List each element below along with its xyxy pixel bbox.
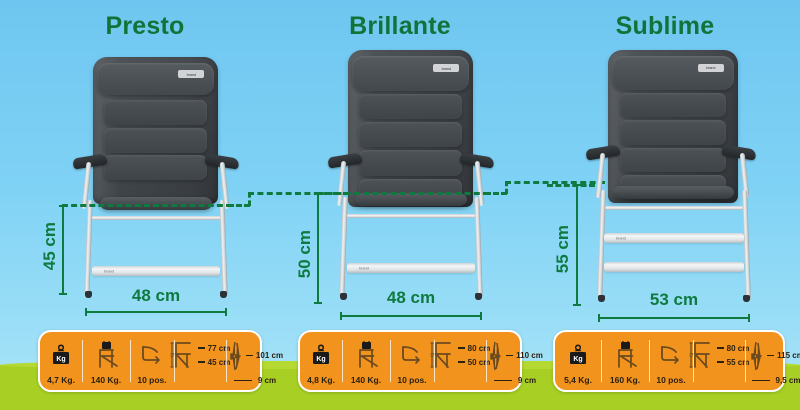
spec-dimensions: 80 cm 50 cm . — [434, 332, 486, 390]
spec-max-load: 160 Kg. — [601, 332, 649, 390]
guide-dash-step-a — [228, 204, 250, 207]
leg-front-left — [597, 190, 606, 300]
width-dim-line — [85, 311, 227, 313]
spec-folded-depth-value: 9,5 cm — [776, 376, 800, 385]
spec-weight: Kg 5,4 Kg. — [555, 332, 601, 390]
product-title-sublime: Sublime — [616, 12, 715, 41]
brand-logo-icon: brand — [433, 64, 459, 72]
width-label: 48 cm — [387, 288, 435, 308]
leg-front-right — [474, 197, 483, 298]
brand-logo-icon: brand — [178, 70, 204, 78]
seat-height-dim-line — [317, 192, 319, 304]
leg-front-right — [219, 200, 227, 296]
brand-logo-icon: brand — [698, 64, 724, 72]
folded-chair-dimensions-icon: 115 cm — [745, 337, 800, 374]
width-label: 53 cm — [650, 290, 698, 310]
spec-positions: 10 pos. — [649, 332, 693, 390]
foot-left — [598, 295, 605, 302]
seat-height-label: 55 cm — [553, 225, 573, 273]
foot-right — [220, 291, 227, 298]
spec-folded-depth: 9 cm — [494, 376, 536, 385]
headrest-cushion — [612, 56, 734, 90]
spec-max-load: 140 Kg. — [82, 332, 130, 390]
folded-chair-dimensions-icon: 110 cm — [486, 337, 544, 374]
weight-block-icon: Kg — [300, 337, 342, 373]
spec-folded-depth: 9 cm — [234, 376, 276, 385]
spec-folded: 101 cm 9 cm — [226, 332, 284, 390]
spec-weight: Kg 4,8 Kg. — [300, 332, 342, 390]
spec-folded-depth-value: 9 cm — [258, 376, 276, 385]
spec-positions-value: 10 pos. — [656, 375, 685, 385]
spec-folded-depth: 9,5 cm — [752, 376, 800, 385]
spec-dimensions: 77 cm 45 cm . — [174, 332, 226, 390]
chair-backrest: brand — [348, 50, 473, 207]
seat-height-label: 50 cm — [295, 230, 315, 278]
spec-dimensions: 80 cm 55 cm . — [693, 332, 745, 390]
foot-right — [475, 293, 482, 300]
product-title-brillante: Brillante — [349, 12, 451, 41]
frame-brandbar: brand — [92, 266, 220, 276]
spec-folded-height-value: 101 cm — [256, 351, 283, 360]
leg-front-left — [339, 197, 348, 298]
spec-panel-sublime: Kg 5,4 Kg. 160 Kg. 10 pos. 80 cm — [553, 330, 785, 392]
spec-weight-value: 5,4 Kg. — [564, 375, 592, 385]
spec-positions: 10 pos. — [130, 332, 174, 390]
foot-right — [743, 295, 750, 302]
chair-side-dimensions-icon: 77 cm 45 cm — [174, 337, 226, 373]
spec-folded: 110 cm 9 cm — [486, 332, 544, 390]
back-cushion-3 — [104, 155, 207, 180]
spec-max-load-value: 160 Kg. — [610, 375, 640, 385]
leg-front-right — [742, 190, 751, 300]
foot-left — [340, 293, 347, 300]
foot-left — [85, 291, 92, 298]
frame-crossbar-upper — [89, 216, 224, 220]
weight-block-icon: Kg — [555, 337, 601, 373]
svg-text:Kg: Kg — [573, 356, 582, 363]
headrest-cushion — [352, 56, 470, 91]
folded-chair-dimensions-icon: 101 cm — [226, 337, 284, 374]
chair-load-icon — [342, 337, 390, 373]
chair-side-dimensions-icon: 80 cm 50 cm — [434, 337, 486, 373]
frame-crossbar-upper — [344, 214, 479, 218]
product-title-presto: Presto — [105, 12, 184, 41]
spec-folded-height-value: 110 cm — [516, 351, 543, 360]
svg-text:Kg: Kg — [56, 356, 65, 363]
spec-max-load-value: 140 Kg. — [91, 375, 121, 385]
svg-text:Kg: Kg — [316, 356, 325, 363]
chair-side-dimensions-icon: 80 cm 55 cm — [693, 337, 745, 373]
back-cushion-2 — [359, 122, 462, 147]
chair-load-icon — [82, 337, 130, 373]
recline-positions-icon — [390, 337, 434, 373]
back-cushion-1 — [104, 100, 207, 125]
seat-height-guide-dash — [317, 192, 489, 195]
back-cushion-1 — [620, 93, 727, 117]
spec-positions: 10 pos. — [390, 332, 434, 390]
seat-height-guide-dash — [547, 184, 595, 187]
spec-panel-presto: Kg 4,7 Kg. 140 Kg. 10 pos. 77 cm 4 — [38, 330, 262, 392]
width-label: 48 cm — [132, 286, 180, 306]
back-cushion-2 — [620, 120, 727, 144]
frame-brandbar-lower — [604, 262, 744, 272]
spec-folded-depth-value: 9 cm — [518, 376, 536, 385]
back-cushion-3 — [359, 150, 462, 175]
chair-load-icon — [601, 337, 649, 373]
back-cushion-3 — [620, 148, 727, 172]
seat-height-label: 45 cm — [40, 222, 60, 270]
weight-block-icon: Kg — [40, 337, 82, 373]
frame-brandbar: brand — [347, 263, 475, 273]
width-dim-line — [340, 315, 482, 317]
spec-max-load: 140 Kg. — [342, 332, 390, 390]
seat-height-dim-line — [576, 184, 578, 306]
spec-weight: Kg 4,7 Kg. — [40, 332, 82, 390]
width-dim-line — [598, 317, 750, 319]
seat-cushion — [612, 186, 734, 199]
spec-positions-value: 10 pos. — [137, 375, 166, 385]
spec-folded: 115 cm 9,5 cm — [745, 332, 800, 390]
spec-weight-value: 4,7 Kg. — [47, 375, 75, 385]
back-cushion-1 — [359, 94, 462, 119]
spec-positions-value: 10 pos. — [397, 375, 426, 385]
chair-backrest: brand — [93, 57, 218, 204]
spec-weight-value: 4,8 Kg. — [307, 375, 335, 385]
headrest-cushion — [97, 63, 215, 95]
frame-brandbar: brand — [604, 233, 744, 243]
guide-dash-step-a — [485, 192, 507, 195]
seat-height-guide-dash — [62, 204, 232, 207]
back-cushion-2 — [104, 128, 207, 153]
leg-front-left — [84, 200, 92, 296]
recline-positions-icon — [649, 337, 693, 373]
seat-height-dim-line — [62, 205, 64, 295]
recline-positions-icon — [130, 337, 174, 373]
spec-max-load-value: 140 Kg. — [351, 375, 381, 385]
frame-crossbar-upper — [601, 206, 747, 210]
spec-panel-brillante: Kg 4,8 Kg. 140 Kg. 10 pos. 80 cm 5 — [298, 330, 522, 392]
comparison-scene: Presto Brillante Sublime brand brand 45 … — [0, 0, 800, 410]
chair-backrest: brand — [608, 50, 738, 203]
spec-folded-height-value: 115 cm — [777, 351, 800, 360]
